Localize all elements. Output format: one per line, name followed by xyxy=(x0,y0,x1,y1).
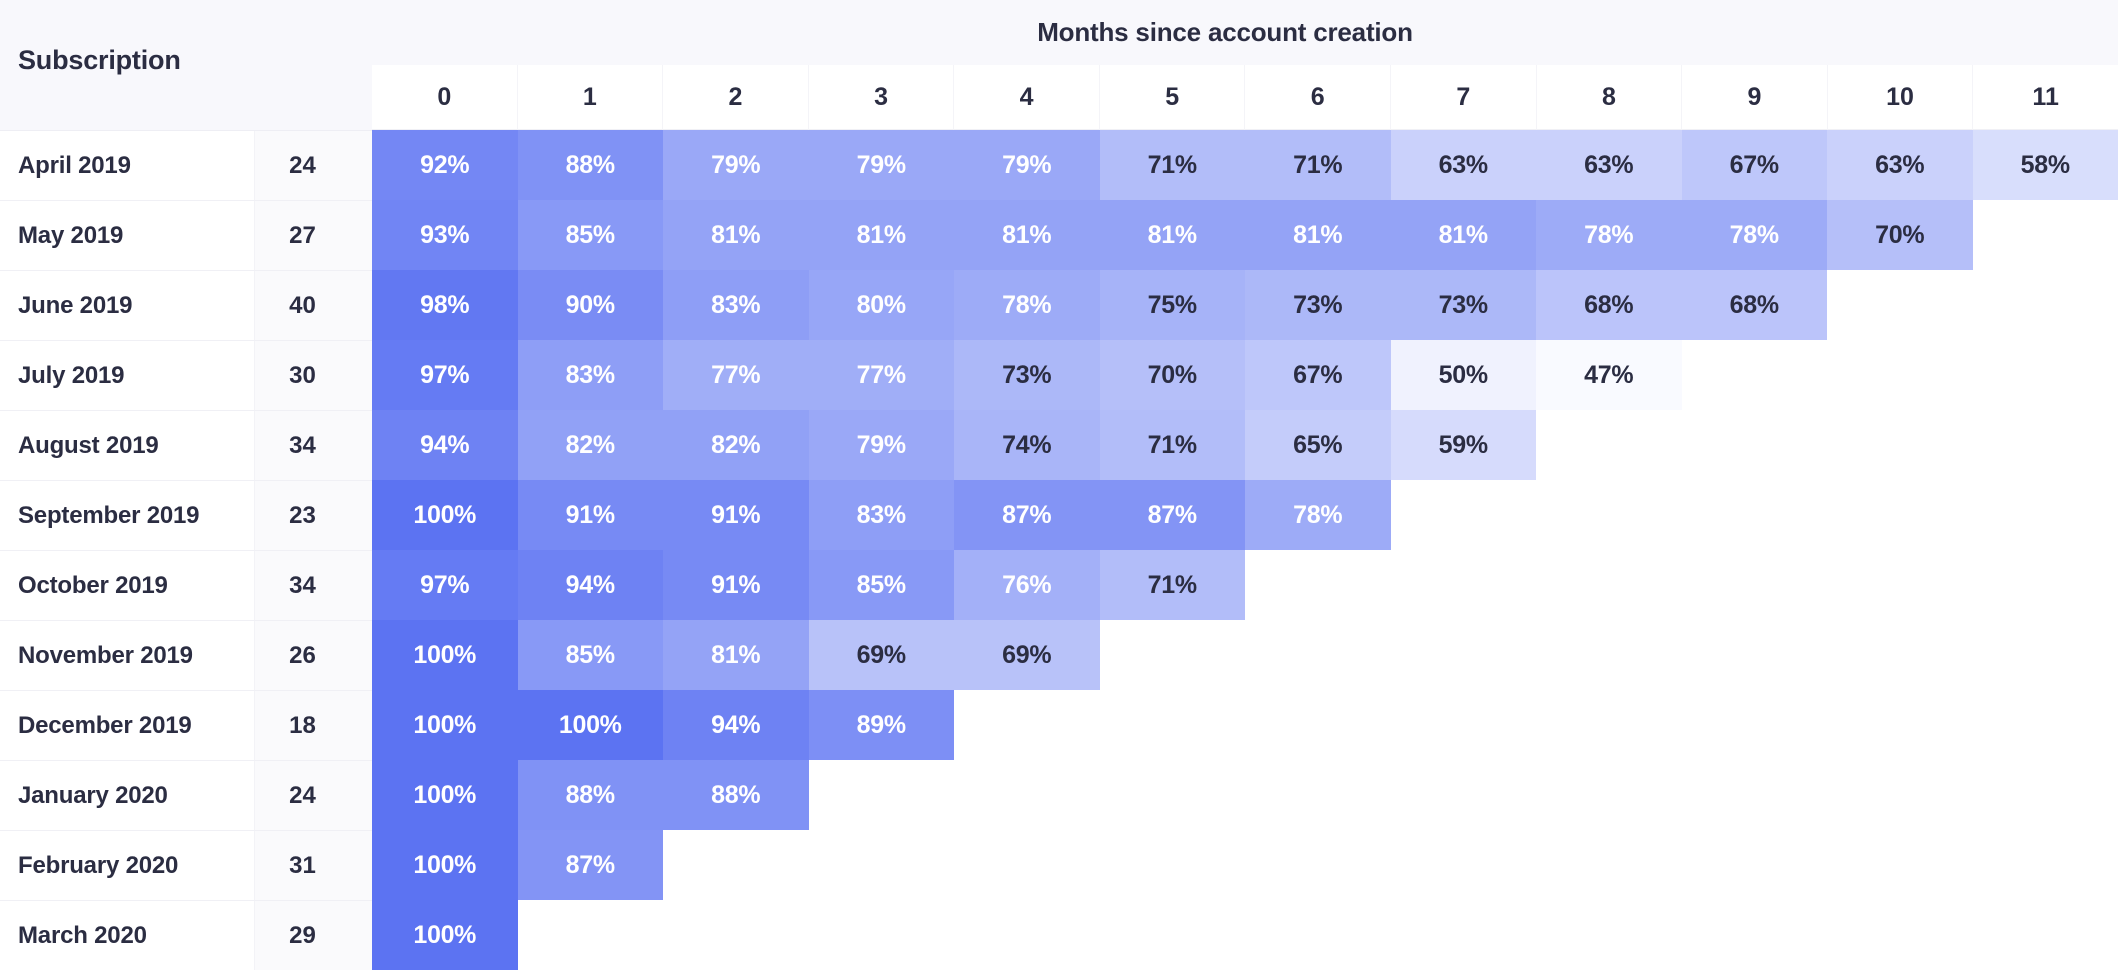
table-row[interactable]: January 202024 xyxy=(0,760,372,830)
heatmap-cell-empty xyxy=(1100,760,1246,830)
heatmap-cell[interactable]: 78% xyxy=(954,270,1100,340)
heatmap-row: 98%90%83%80%78%75%73%73%68%68% xyxy=(372,270,2118,340)
heatmap-cell[interactable]: 87% xyxy=(1100,480,1246,550)
heatmap-cell[interactable]: 58% xyxy=(1973,130,2118,200)
heatmap-cell[interactable]: 87% xyxy=(954,480,1100,550)
column-header-month-6[interactable]: 6 xyxy=(1244,65,1390,130)
heatmap-cell-empty xyxy=(1973,900,2118,970)
heatmap-cell-empty xyxy=(1391,480,1537,550)
heatmap-cell-empty xyxy=(1245,760,1391,830)
column-header-month-8[interactable]: 8 xyxy=(1536,65,1682,130)
column-header-month-3[interactable]: 3 xyxy=(808,65,954,130)
heatmap-panel: Months since account creation 0123456789… xyxy=(372,0,2118,980)
heatmap-body: 92%88%79%79%79%71%71%63%63%67%63%58%93%8… xyxy=(372,130,2118,970)
heatmap-row: 100% xyxy=(372,900,2118,970)
heatmap-cell[interactable]: 100% xyxy=(372,620,518,690)
heatmap-cell[interactable]: 98% xyxy=(372,270,518,340)
heatmap-cell-empty xyxy=(1973,620,2118,690)
cohort-size-value: 26 xyxy=(254,621,372,690)
cohort-size-value: 24 xyxy=(254,761,372,830)
cohort-size-value: 18 xyxy=(254,691,372,760)
heatmap-cell[interactable]: 71% xyxy=(1100,130,1246,200)
heatmap-row: 100%91%91%83%87%87%78% xyxy=(372,480,2118,550)
heatmap-cell[interactable]: 68% xyxy=(1682,270,1828,340)
heatmap-cell-empty xyxy=(1391,690,1537,760)
heatmap-cell[interactable]: 90% xyxy=(518,270,664,340)
heatmap-cell[interactable]: 47% xyxy=(1536,340,1682,410)
heatmap-cell-empty xyxy=(663,900,809,970)
cohort-label: June 2019 xyxy=(0,271,254,340)
heatmap-cell[interactable]: 83% xyxy=(663,270,809,340)
heatmap-cell-empty xyxy=(954,690,1100,760)
heatmap-cell[interactable]: 67% xyxy=(1245,340,1391,410)
heatmap-cell[interactable]: 71% xyxy=(1100,550,1246,620)
heatmap-cell-empty xyxy=(1973,480,2118,550)
heatmap-cell-empty xyxy=(1536,760,1682,830)
heatmap-cell-empty xyxy=(1827,550,1973,620)
heatmap-cell-empty xyxy=(663,830,809,900)
cohort-size-value: 30 xyxy=(254,341,372,410)
heatmap-cell-empty xyxy=(1391,620,1537,690)
heatmap-cell[interactable]: 73% xyxy=(1245,270,1391,340)
heatmap-cell[interactable]: 83% xyxy=(809,480,955,550)
table-row[interactable]: June 201940 xyxy=(0,270,372,340)
heatmap-cell[interactable]: 94% xyxy=(372,410,518,480)
column-header-month-5[interactable]: 5 xyxy=(1099,65,1245,130)
heatmap-cell-empty xyxy=(1391,900,1537,970)
table-row[interactable]: May 201927 xyxy=(0,200,372,270)
heatmap-cell[interactable]: 79% xyxy=(809,130,955,200)
heatmap-cell[interactable]: 69% xyxy=(954,620,1100,690)
column-header-month-4[interactable]: 4 xyxy=(953,65,1099,130)
heatmap-cell[interactable]: 97% xyxy=(372,340,518,410)
heatmap-cell[interactable]: 100% xyxy=(372,480,518,550)
heatmap-cell[interactable]: 93% xyxy=(372,200,518,270)
heatmap-cell-empty xyxy=(1391,760,1537,830)
heatmap-cell[interactable]: 81% xyxy=(1100,200,1246,270)
heatmap-cell[interactable]: 70% xyxy=(1827,200,1973,270)
column-header-row: 01234567891011 xyxy=(372,65,2118,130)
cohort-label: August 2019 xyxy=(0,411,254,480)
heatmap-cell[interactable]: 67% xyxy=(1682,130,1828,200)
cohort-retention-table: Subscription April 201924May 201927June … xyxy=(0,0,2118,980)
heatmap-cell-empty xyxy=(1973,830,2118,900)
heatmap-cell[interactable]: 88% xyxy=(663,760,809,830)
page-title: Subscription xyxy=(18,45,181,76)
heatmap-cell-empty xyxy=(1827,410,1973,480)
heatmap-cell[interactable]: 79% xyxy=(954,130,1100,200)
heatmap-cell[interactable]: 71% xyxy=(1100,410,1246,480)
cohort-label: September 2019 xyxy=(0,481,254,550)
heatmap-cell-empty xyxy=(518,900,664,970)
heatmap-cell-empty xyxy=(1973,410,2118,480)
heatmap-row: 94%82%82%79%74%71%65%59% xyxy=(372,410,2118,480)
heatmap-cell[interactable]: 77% xyxy=(809,340,955,410)
heatmap-cell[interactable]: 88% xyxy=(518,130,664,200)
cohort-label: November 2019 xyxy=(0,621,254,690)
heatmap-cell[interactable]: 100% xyxy=(372,830,518,900)
grid-axis-title: Months since account creation xyxy=(372,0,2118,65)
heatmap-cell[interactable]: 68% xyxy=(1536,270,1682,340)
heatmap-cell[interactable]: 97% xyxy=(372,550,518,620)
heatmap-cell-empty xyxy=(1827,830,1973,900)
column-header-month-11[interactable]: 11 xyxy=(1972,65,2118,130)
heatmap-cell[interactable]: 79% xyxy=(809,410,955,480)
heatmap-cell-empty xyxy=(1100,690,1246,760)
column-header-month-7[interactable]: 7 xyxy=(1390,65,1536,130)
heatmap-cell[interactable]: 100% xyxy=(372,900,518,970)
heatmap-cell-empty xyxy=(1391,550,1537,620)
heatmap-cell-empty xyxy=(1682,480,1828,550)
heatmap-cell[interactable]: 92% xyxy=(372,130,518,200)
heatmap-cell-empty xyxy=(1973,340,2118,410)
heatmap-cell[interactable]: 69% xyxy=(809,620,955,690)
table-row[interactable]: August 201934 xyxy=(0,410,372,480)
heatmap-cell[interactable]: 81% xyxy=(1245,200,1391,270)
cohort-size-value: 24 xyxy=(254,131,372,200)
heatmap-cell-empty xyxy=(1827,620,1973,690)
heatmap-cell[interactable]: 76% xyxy=(954,550,1100,620)
heatmap-cell-empty xyxy=(1536,900,1682,970)
heatmap-cell[interactable]: 75% xyxy=(1100,270,1246,340)
cohort-size-value: 29 xyxy=(254,901,372,970)
cohort-label: May 2019 xyxy=(0,201,254,270)
heatmap-cell-empty xyxy=(954,830,1100,900)
heatmap-cell-empty xyxy=(1682,550,1828,620)
heatmap-cell[interactable]: 94% xyxy=(663,690,809,760)
heatmap-cell-empty xyxy=(1973,200,2118,270)
heatmap-cell-empty xyxy=(1682,340,1828,410)
heatmap-cell[interactable]: 63% xyxy=(1536,130,1682,200)
heatmap-cell[interactable]: 100% xyxy=(372,690,518,760)
heatmap-cell[interactable]: 85% xyxy=(518,620,664,690)
table-row[interactable]: November 201926 xyxy=(0,620,372,690)
cohort-size-value: 34 xyxy=(254,411,372,480)
heatmap-cell[interactable]: 100% xyxy=(518,690,664,760)
cohort-label-list: April 201924May 201927June 201940July 20… xyxy=(0,130,372,970)
cohort-label: July 2019 xyxy=(0,341,254,410)
heatmap-cell-empty xyxy=(1100,830,1246,900)
heatmap-cell[interactable]: 85% xyxy=(518,200,664,270)
heatmap-cell[interactable]: 65% xyxy=(1245,410,1391,480)
column-header-month-10[interactable]: 10 xyxy=(1827,65,1973,130)
heatmap-cell-empty xyxy=(1245,620,1391,690)
table-row[interactable]: September 201923 xyxy=(0,480,372,550)
cohort-label: January 2020 xyxy=(0,761,254,830)
heatmap-cell[interactable]: 73% xyxy=(1391,270,1537,340)
heatmap-cell-empty xyxy=(1682,690,1828,760)
cohort-size-value: 23 xyxy=(254,481,372,550)
table-row[interactable]: July 201930 xyxy=(0,340,372,410)
heatmap-cell-empty xyxy=(1682,620,1828,690)
heatmap-cell-empty xyxy=(1245,830,1391,900)
grid-axis-title-label: Months since account creation xyxy=(1037,17,1413,48)
heatmap-cell-empty xyxy=(1100,900,1246,970)
heatmap-cell[interactable]: 78% xyxy=(1536,200,1682,270)
heatmap-cell-empty xyxy=(1100,620,1246,690)
heatmap-cell[interactable]: 81% xyxy=(809,200,955,270)
heatmap-cell[interactable]: 74% xyxy=(954,410,1100,480)
heatmap-cell[interactable]: 81% xyxy=(1391,200,1537,270)
heatmap-cell[interactable]: 91% xyxy=(518,480,664,550)
heatmap-row: 97%83%77%77%73%70%67%50%47% xyxy=(372,340,2118,410)
heatmap-cell[interactable]: 91% xyxy=(663,550,809,620)
heatmap-cell[interactable]: 81% xyxy=(663,200,809,270)
row-header-corner: Subscription xyxy=(0,0,372,130)
heatmap-cell[interactable]: 63% xyxy=(1827,130,1973,200)
heatmap-cell-empty xyxy=(1536,550,1682,620)
heatmap-cell[interactable]: 89% xyxy=(809,690,955,760)
heatmap-row: 100%100%94%89% xyxy=(372,690,2118,760)
heatmap-cell-empty xyxy=(1973,270,2118,340)
heatmap-cell-empty xyxy=(809,760,955,830)
row-header-panel: Subscription April 201924May 201927June … xyxy=(0,0,372,980)
heatmap-cell-empty xyxy=(809,830,955,900)
heatmap-cell-empty xyxy=(1827,270,1973,340)
heatmap-cell-empty xyxy=(1682,900,1828,970)
column-header-month-0[interactable]: 0 xyxy=(372,65,517,130)
heatmap-cell[interactable]: 100% xyxy=(372,760,518,830)
heatmap-cell[interactable]: 73% xyxy=(954,340,1100,410)
cohort-size-value: 34 xyxy=(254,551,372,620)
table-row[interactable]: February 202031 xyxy=(0,830,372,900)
heatmap-cell[interactable]: 94% xyxy=(518,550,664,620)
heatmap-cell[interactable]: 83% xyxy=(518,340,664,410)
heatmap-cell-empty xyxy=(1536,830,1682,900)
heatmap-cell-empty xyxy=(1827,900,1973,970)
heatmap-cell[interactable]: 77% xyxy=(663,340,809,410)
heatmap-cell-empty xyxy=(1536,480,1682,550)
heatmap-cell-empty xyxy=(1973,550,2118,620)
heatmap-cell[interactable]: 50% xyxy=(1391,340,1537,410)
heatmap-cell[interactable]: 81% xyxy=(663,620,809,690)
cohort-size-value: 27 xyxy=(254,201,372,270)
heatmap-cell[interactable]: 71% xyxy=(1245,130,1391,200)
table-row[interactable]: October 201934 xyxy=(0,550,372,620)
heatmap-cell[interactable]: 78% xyxy=(1682,200,1828,270)
table-row[interactable]: March 202029 xyxy=(0,900,372,970)
heatmap-cell-empty xyxy=(1827,760,1973,830)
heatmap-cell-empty xyxy=(1682,830,1828,900)
heatmap-cell-empty xyxy=(954,760,1100,830)
heatmap-cell-empty xyxy=(1536,410,1682,480)
heatmap-cell[interactable]: 88% xyxy=(518,760,664,830)
cohort-size-value: 40 xyxy=(254,271,372,340)
heatmap-cell-empty xyxy=(809,900,955,970)
heatmap-row: 100%87% xyxy=(372,830,2118,900)
heatmap-cell[interactable]: 59% xyxy=(1391,410,1537,480)
column-header-month-2[interactable]: 2 xyxy=(662,65,808,130)
heatmap-cell-empty xyxy=(1245,690,1391,760)
heatmap-row: 97%94%91%85%76%71% xyxy=(372,550,2118,620)
heatmap-cell[interactable]: 70% xyxy=(1100,340,1246,410)
heatmap-cell[interactable]: 78% xyxy=(1245,480,1391,550)
heatmap-row: 100%85%81%69%69% xyxy=(372,620,2118,690)
heatmap-cell-empty xyxy=(1682,760,1828,830)
heatmap-row: 92%88%79%79%79%71%71%63%63%67%63%58% xyxy=(372,130,2118,200)
heatmap-row: 100%88%88% xyxy=(372,760,2118,830)
heatmap-cell-empty xyxy=(1245,550,1391,620)
cohort-label: October 2019 xyxy=(0,551,254,620)
heatmap-cell-empty xyxy=(1391,830,1537,900)
heatmap-cell[interactable]: 82% xyxy=(663,410,809,480)
cohort-label: December 2019 xyxy=(0,691,254,760)
column-header-month-1[interactable]: 1 xyxy=(517,65,663,130)
heatmap-cell[interactable]: 63% xyxy=(1391,130,1537,200)
heatmap-cell[interactable]: 85% xyxy=(809,550,955,620)
heatmap-cell[interactable]: 81% xyxy=(954,200,1100,270)
heatmap-cell[interactable]: 79% xyxy=(663,130,809,200)
cohort-label: April 2019 xyxy=(0,131,254,200)
heatmap-cell[interactable]: 80% xyxy=(809,270,955,340)
heatmap-row: 93%85%81%81%81%81%81%81%78%78%70% xyxy=(372,200,2118,270)
heatmap-cell-empty xyxy=(1827,690,1973,760)
heatmap-cell[interactable]: 87% xyxy=(518,830,664,900)
heatmap-cell-empty xyxy=(1973,690,2118,760)
table-row[interactable]: April 201924 xyxy=(0,130,372,200)
heatmap-cell-empty xyxy=(1536,690,1682,760)
cohort-label: March 2020 xyxy=(0,901,254,970)
heatmap-cell-empty xyxy=(1827,340,1973,410)
cohort-label: February 2020 xyxy=(0,831,254,900)
heatmap-cell[interactable]: 91% xyxy=(663,480,809,550)
heatmap-cell-empty xyxy=(1536,620,1682,690)
column-header-month-9[interactable]: 9 xyxy=(1681,65,1827,130)
heatmap-cell-empty xyxy=(954,900,1100,970)
heatmap-cell-empty xyxy=(1245,900,1391,970)
cohort-size-value: 31 xyxy=(254,831,372,900)
heatmap-cell-empty xyxy=(1973,760,2118,830)
table-row[interactable]: December 201918 xyxy=(0,690,372,760)
heatmap-cell[interactable]: 82% xyxy=(518,410,664,480)
heatmap-cell-empty xyxy=(1682,410,1828,480)
heatmap-cell-empty xyxy=(1827,480,1973,550)
